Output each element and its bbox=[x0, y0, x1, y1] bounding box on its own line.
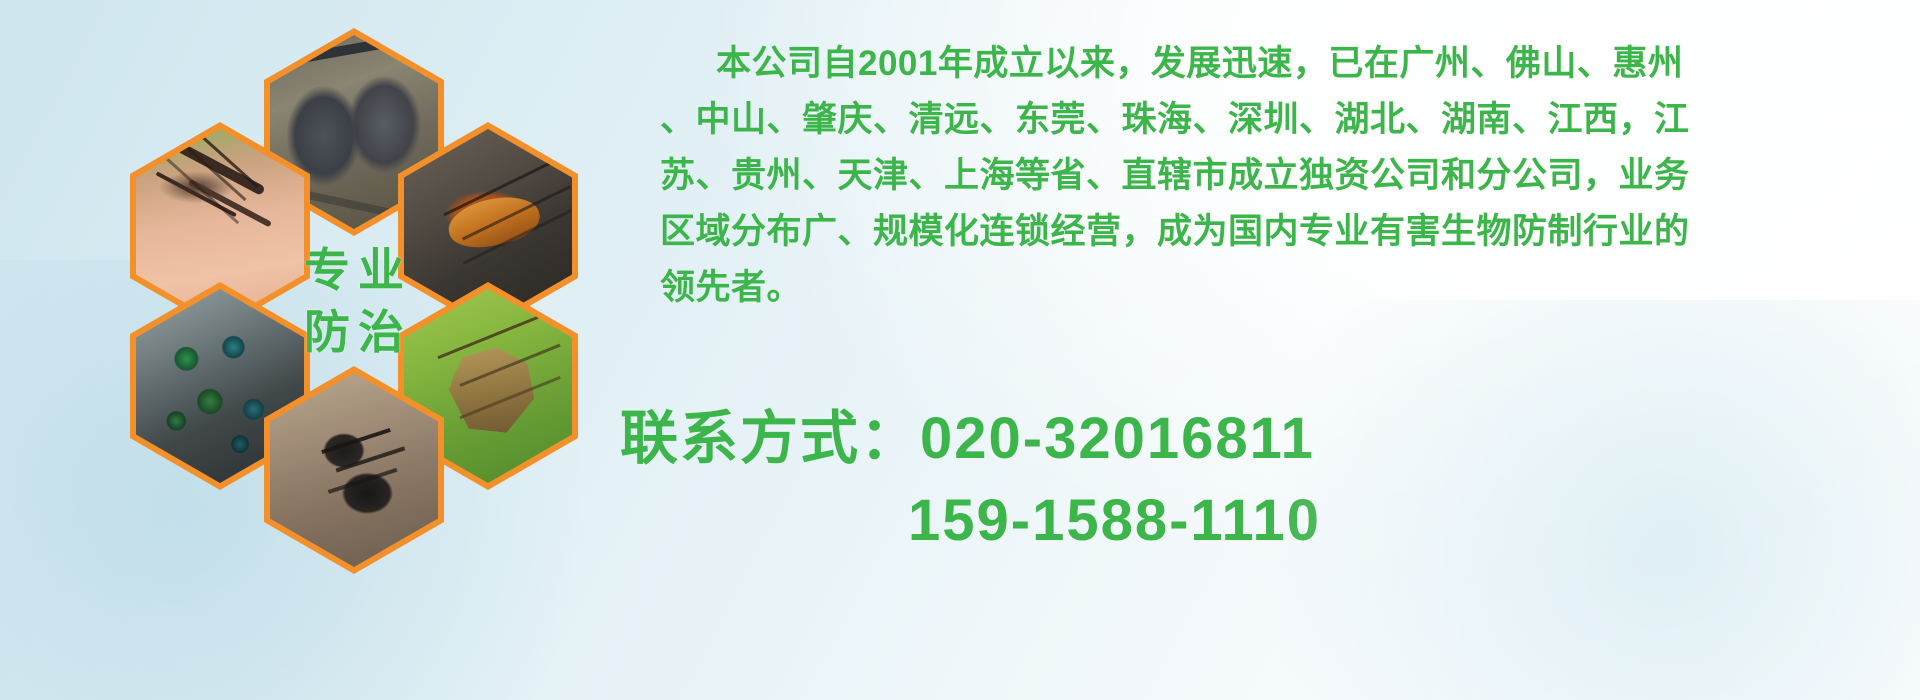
about-paragraph: 本公司自2001年成立以来，发展迅速，已在广州、佛山、惠州 、中山、肇庆、清远、… bbox=[660, 36, 1910, 316]
badge-line-2: 防治 bbox=[296, 304, 412, 360]
about-line-4: 区域分布广、规模化连锁经营，成为国内专业有害生物防制行业的 bbox=[660, 204, 1910, 260]
promo-banner: 专业 防治 本公司自2001年成立以来，发展迅速，已在广州、佛山、惠州 、中山、… bbox=[0, 0, 1920, 700]
about-line-5: 领先者。 bbox=[660, 260, 1910, 316]
about-line-1: 本公司自2001年成立以来，发展迅速，已在广州、佛山、惠州 bbox=[660, 36, 1910, 92]
hexagon-photo-cluster: 专业 防治 bbox=[92, 10, 612, 570]
badge-line-1: 专业 bbox=[296, 242, 412, 298]
contact-landline[interactable]: 联系方式：020-32016811 bbox=[620, 398, 1900, 480]
about-line-2: 、中山、肇庆、清远、东莞、珠海、深圳、湖北、湖南、江西，江 bbox=[660, 92, 1910, 148]
about-line-3: 苏、贵州、天津、上海等省、直辖市成立独资公司和分公司，业务 bbox=[660, 148, 1910, 204]
contact-block: 联系方式：020-32016811 159-1588-1110 bbox=[620, 398, 1900, 562]
contact-mobile[interactable]: 159-1588-1110 bbox=[620, 480, 1900, 562]
